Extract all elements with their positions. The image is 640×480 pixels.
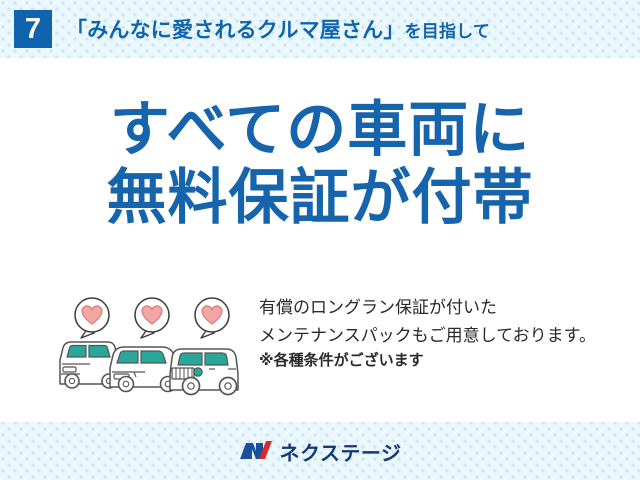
headline: すべての車両に 無料保証が付帯 bbox=[0, 96, 640, 233]
header-title: 「みんなに愛されるクルマ屋さん」を目指して bbox=[66, 14, 490, 44]
nextage-n-logo-icon bbox=[239, 439, 273, 463]
cars-with-hearts-illustration bbox=[50, 286, 250, 401]
car-suv bbox=[170, 349, 238, 395]
copy-line-1: 有償のロングラン保証が付いた bbox=[259, 294, 596, 322]
banner-header: 7 「みんなに愛されるクルマ屋さん」を目指して bbox=[0, 0, 640, 58]
section-number-badge: 7 bbox=[14, 10, 52, 48]
brand-logo: ネクステージ bbox=[239, 437, 402, 466]
supporting-copy: 有償のロングラン保証が付いた メンテナンスパックもご用意しております。 ※各種条… bbox=[259, 294, 596, 374]
headline-line-2: 無料保証が付帯 bbox=[0, 164, 640, 232]
car-minivan bbox=[110, 347, 179, 392]
copy-note: ※各種条件がございます bbox=[259, 349, 596, 374]
warranty-banner: 7 「みんなに愛されるクルマ屋さん」を目指して すべての車両に 無料保証が付帯 bbox=[0, 0, 640, 480]
heart-bubble-3 bbox=[195, 298, 229, 338]
header-title-tail: を目指して bbox=[405, 22, 491, 41]
brand-name: ネクステージ bbox=[280, 437, 402, 466]
content-card: すべての車両に 無料保証が付帯 bbox=[0, 58, 640, 422]
headline-line-1: すべての車両に bbox=[110, 96, 530, 163]
illustration-and-copy: 有償のロングラン保証が付いた メンテナンスパックもご用意しております。 ※各種条… bbox=[0, 286, 640, 422]
banner-footer: ネクステージ bbox=[0, 422, 640, 480]
heart-bubble-1 bbox=[75, 298, 109, 338]
copy-line-2: メンテナンスパックもご用意しております。 bbox=[259, 322, 596, 350]
header-title-main: 「みんなに愛されるクルマ屋さん」 bbox=[66, 19, 405, 42]
heart-bubble-2 bbox=[135, 298, 169, 338]
